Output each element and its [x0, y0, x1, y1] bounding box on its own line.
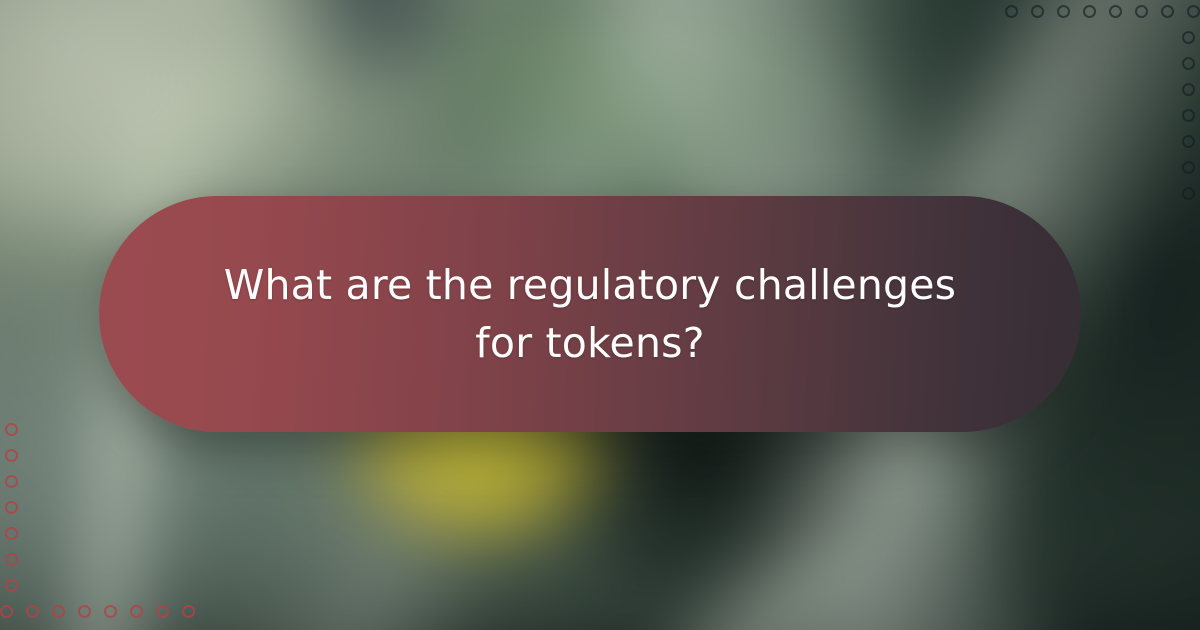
question-card: What are the regulatory challenges for t… [99, 196, 1081, 432]
question-text: What are the regulatory challenges for t… [219, 256, 961, 372]
social-card-canvas: What are the regulatory challenges for t… [0, 0, 1200, 630]
